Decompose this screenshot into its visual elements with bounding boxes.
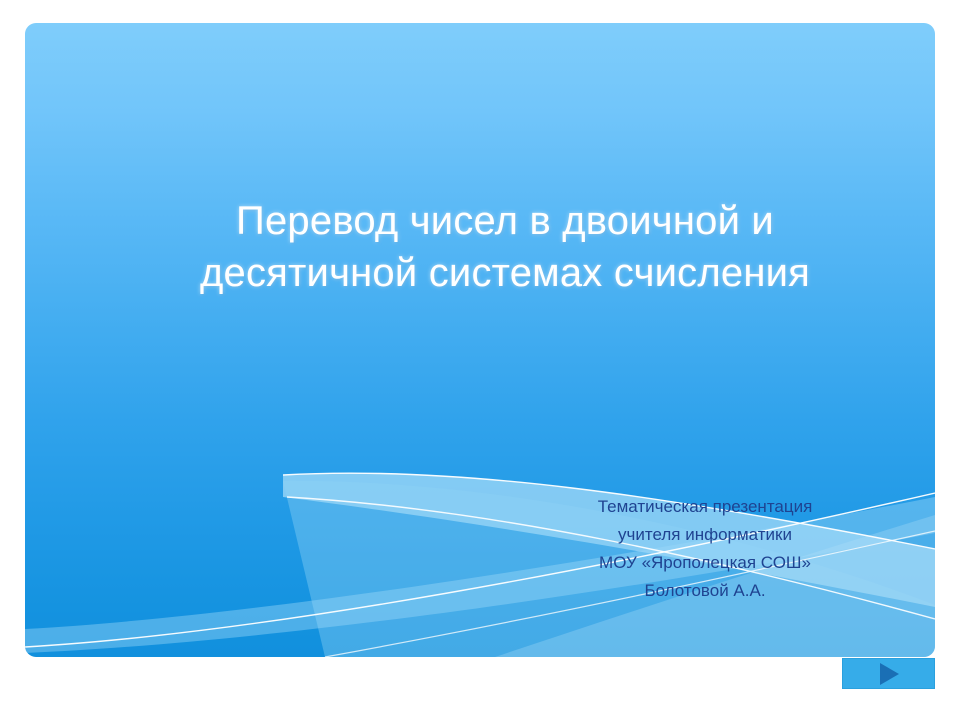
- subtitle-line-2: учителя информатики: [495, 521, 915, 549]
- slide-title: Перевод чисел в двоичной и десятичной си…: [50, 195, 935, 299]
- subtitle-line-1: Тематическая презентация: [495, 493, 915, 521]
- subtitle-line-4: Болотовой А.А.: [495, 577, 915, 605]
- slide-canvas: Перевод чисел в двоичной и десятичной си…: [25, 23, 935, 657]
- play-triangle-icon: [880, 663, 899, 685]
- next-slide-button[interactable]: [842, 658, 935, 689]
- slide-title-text: Перевод чисел в двоичной и десятичной си…: [50, 195, 935, 299]
- subtitle-line-3: МОУ «Ярополецкая СОШ»: [495, 549, 915, 577]
- slide-subtitle: Тематическая презентация учителя информа…: [495, 493, 915, 605]
- presentation-viewer: Перевод чисел в двоичной и десятичной си…: [0, 0, 960, 720]
